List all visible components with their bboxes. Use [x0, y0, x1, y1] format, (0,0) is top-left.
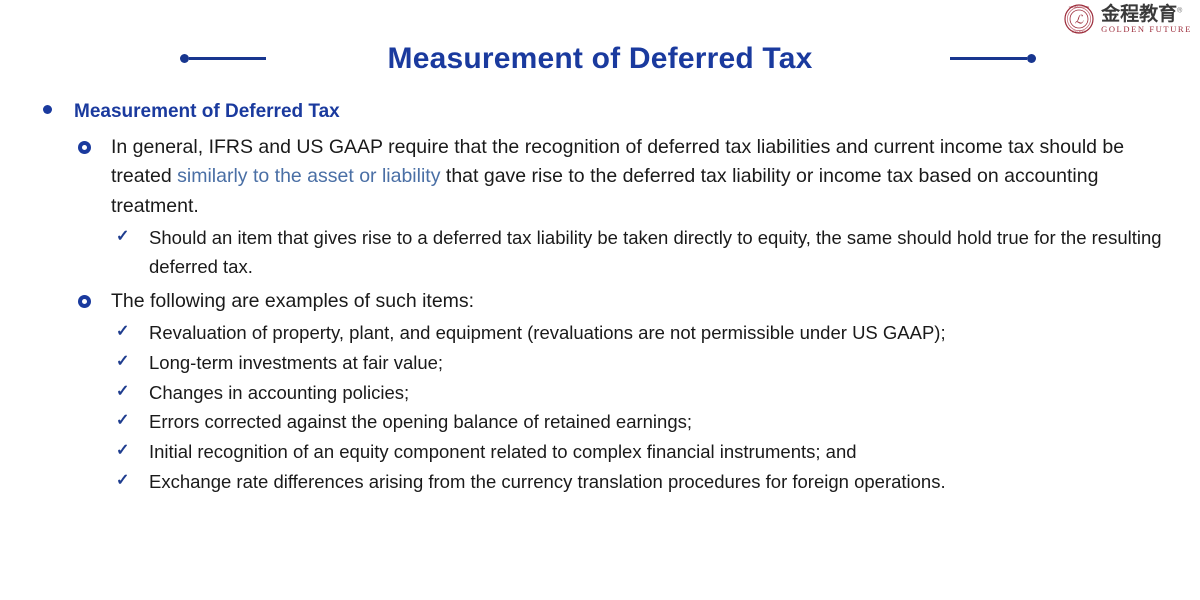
paragraph-highlight: similarly to the asset or liability	[177, 165, 440, 187]
list-item: ✓ Changes in accounting policies;	[116, 379, 1170, 408]
logo-chinese-name: 金程教育®	[1101, 5, 1192, 24]
golden-future-seal-icon: ℒ GOLDEN FUTURE EDUCATION	[1064, 4, 1094, 34]
logo-wordmark: 金程教育® GOLDEN FUTURE	[1101, 5, 1192, 34]
list-item: ✓ Long-term investments at fair value;	[116, 349, 1170, 378]
paragraph-row: In general, IFRS and US GAAP require tha…	[78, 133, 1170, 222]
paragraph-subpoint: Should an item that gives rise to a defe…	[149, 224, 1170, 281]
disc-bullet-icon	[43, 105, 52, 114]
ring-bullet-icon	[78, 141, 91, 154]
decoration-dot-icon	[1027, 54, 1036, 63]
svg-text:EDUCATION: EDUCATION	[1072, 30, 1086, 33]
logo-chinese-text: 金程教育	[1101, 4, 1177, 25]
registered-trademark-icon: ®	[1177, 7, 1182, 14]
check-bullet-icon: ✓	[116, 324, 130, 340]
list-item-text: Errors corrected against the opening bal…	[149, 408, 1170, 437]
ring-bullet-icon	[78, 295, 91, 308]
list-item-text: Long-term investments at fair value;	[149, 349, 1170, 378]
check-bullet-icon: ✓	[116, 354, 130, 370]
list-item: ✓ Revaluation of property, plant, and eq…	[116, 319, 1170, 348]
check-bullet-icon: ✓	[116, 229, 130, 245]
logo-english-name: GOLDEN FUTURE	[1101, 25, 1192, 34]
brand-logo: ℒ GOLDEN FUTURE EDUCATION 金程教育® GOLDEN F…	[1064, 4, 1192, 34]
paragraph-subpoint-row: ✓ Should an item that gives rise to a de…	[116, 224, 1170, 281]
paragraph-text: In general, IFRS and US GAAP require tha…	[111, 133, 1170, 222]
list-item-text: Initial recognition of an equity compone…	[149, 438, 1170, 467]
page-title: Measurement of Deferred Tax	[388, 42, 813, 76]
examples-intro: The following are examples of such items…	[111, 287, 1170, 317]
list-item-text: Revaluation of property, plant, and equi…	[149, 319, 1170, 348]
section-heading-row: Measurement of Deferred Tax	[40, 98, 1170, 127]
list-item-text: Changes in accounting policies;	[149, 379, 1170, 408]
title-decoration-right	[950, 52, 1036, 64]
slide-content: Measurement of Deferred Tax In general, …	[40, 98, 1170, 497]
svg-text:GOLDEN FUTURE: GOLDEN FUTURE	[1069, 6, 1090, 9]
section-heading: Measurement of Deferred Tax	[74, 98, 340, 127]
list-item-text: Exchange rate differences arising from t…	[149, 468, 1170, 497]
decoration-line	[950, 57, 1027, 60]
check-bullet-icon: ✓	[116, 413, 130, 429]
list-item: ✓ Initial recognition of an equity compo…	[116, 438, 1170, 467]
check-bullet-icon: ✓	[116, 443, 130, 459]
check-bullet-icon: ✓	[116, 473, 130, 489]
check-bullet-icon: ✓	[116, 384, 130, 400]
examples-list: ✓ Revaluation of property, plant, and eq…	[40, 319, 1170, 496]
list-item: ✓ Exchange rate differences arising from…	[116, 468, 1170, 497]
svg-text:ℒ: ℒ	[1075, 13, 1084, 27]
list-item: ✓ Errors corrected against the opening b…	[116, 408, 1170, 437]
examples-intro-row: The following are examples of such items…	[78, 287, 1170, 317]
